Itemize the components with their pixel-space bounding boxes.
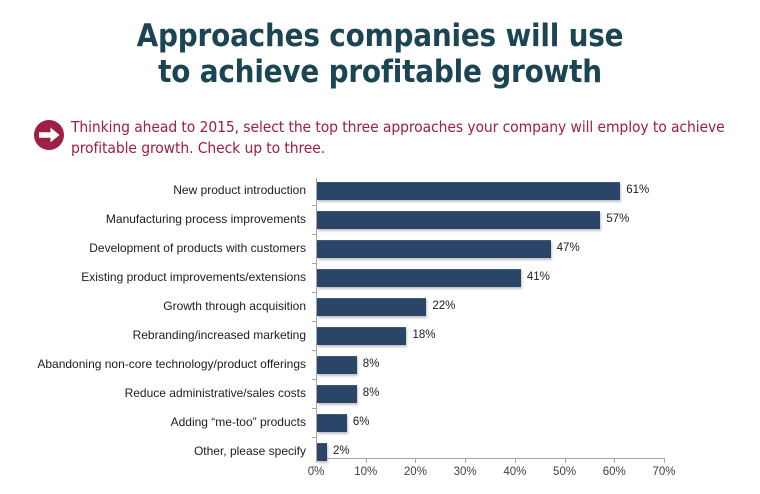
y-axis-tick-mark xyxy=(312,234,316,235)
x-axis-tick-mark xyxy=(664,458,665,463)
bar[interactable] xyxy=(317,327,406,345)
bar-row: Adding “me-too” products6% xyxy=(316,414,664,443)
y-axis-tick-mark xyxy=(312,379,316,380)
bar-row: Rebranding/increased marketing18% xyxy=(316,327,664,356)
bar[interactable] xyxy=(317,443,327,461)
bar[interactable] xyxy=(317,269,521,287)
bar-value-label: 61% xyxy=(626,182,649,199)
bar-value-label: 2% xyxy=(333,443,350,460)
chart-slide: Approaches companies will use to achieve… xyxy=(0,0,760,494)
bar-row: Other, please specify2% xyxy=(316,443,664,472)
bar-row: Existing product improvements/extensions… xyxy=(316,269,664,298)
bar-value-label: 41% xyxy=(527,269,550,286)
bar-row: Development of products with customers47… xyxy=(316,240,664,269)
survey-question-text: Thinking ahead to 2015, select the top t… xyxy=(71,117,746,159)
y-axis-tick-mark xyxy=(312,466,316,467)
bar-value-label: 57% xyxy=(606,211,629,228)
bar-value-label: 8% xyxy=(363,385,380,402)
bar[interactable] xyxy=(317,298,426,316)
survey-question: Thinking ahead to 2015, select the top t… xyxy=(32,117,746,159)
bar-value-label: 6% xyxy=(353,414,370,431)
bar-row: Manufacturing process improvements57% xyxy=(316,211,664,240)
y-axis-tick-mark xyxy=(312,437,316,438)
bar-row: Growth through acquisition22% xyxy=(316,298,664,327)
bar-chart: 0%10%20%30%40%50%60%70% New product intr… xyxy=(0,168,760,494)
y-axis-tick-mark xyxy=(312,408,316,409)
bar[interactable] xyxy=(317,414,347,432)
category-label: Other, please specify xyxy=(0,443,306,460)
category-label: New product introduction xyxy=(0,182,306,199)
bar-value-label: 22% xyxy=(432,298,455,315)
y-axis-tick-mark xyxy=(312,263,316,264)
category-label: Growth through acquisition xyxy=(0,298,306,315)
title-line-1: Approaches companies will use xyxy=(0,18,760,54)
bar[interactable] xyxy=(317,356,357,374)
bar-value-label: 8% xyxy=(363,356,380,373)
y-axis-tick-mark xyxy=(312,321,316,322)
bar[interactable] xyxy=(317,240,551,258)
bar[interactable] xyxy=(317,385,357,403)
category-label: Abandoning non-core technology/product o… xyxy=(0,356,306,373)
bar[interactable] xyxy=(317,211,600,229)
bar-row: Abandoning non-core technology/product o… xyxy=(316,356,664,385)
circle-arrow-right-icon xyxy=(32,118,66,152)
page-title: Approaches companies will use to achieve… xyxy=(0,18,760,90)
bar-value-label: 18% xyxy=(412,327,435,344)
title-line-2: to achieve profitable growth xyxy=(0,54,760,90)
y-axis-tick-mark xyxy=(312,205,316,206)
bar-row: Reduce administrative/sales costs8% xyxy=(316,385,664,414)
plot-area: 0%10%20%30%40%50%60%70% New product intr… xyxy=(316,178,664,458)
y-axis-tick-mark xyxy=(312,292,316,293)
category-label: Existing product improvements/extensions xyxy=(0,269,306,286)
bar-row: New product introduction61% xyxy=(316,182,664,211)
category-label: Development of products with customers xyxy=(0,240,306,257)
bar-value-label: 47% xyxy=(557,240,580,257)
category-label: Reduce administrative/sales costs xyxy=(0,385,306,402)
category-label: Rebranding/increased marketing xyxy=(0,327,306,344)
bar[interactable] xyxy=(317,182,620,200)
y-axis-tick-mark xyxy=(312,350,316,351)
category-label: Manufacturing process improvements xyxy=(0,211,306,228)
category-label: Adding “me-too” products xyxy=(0,414,306,431)
